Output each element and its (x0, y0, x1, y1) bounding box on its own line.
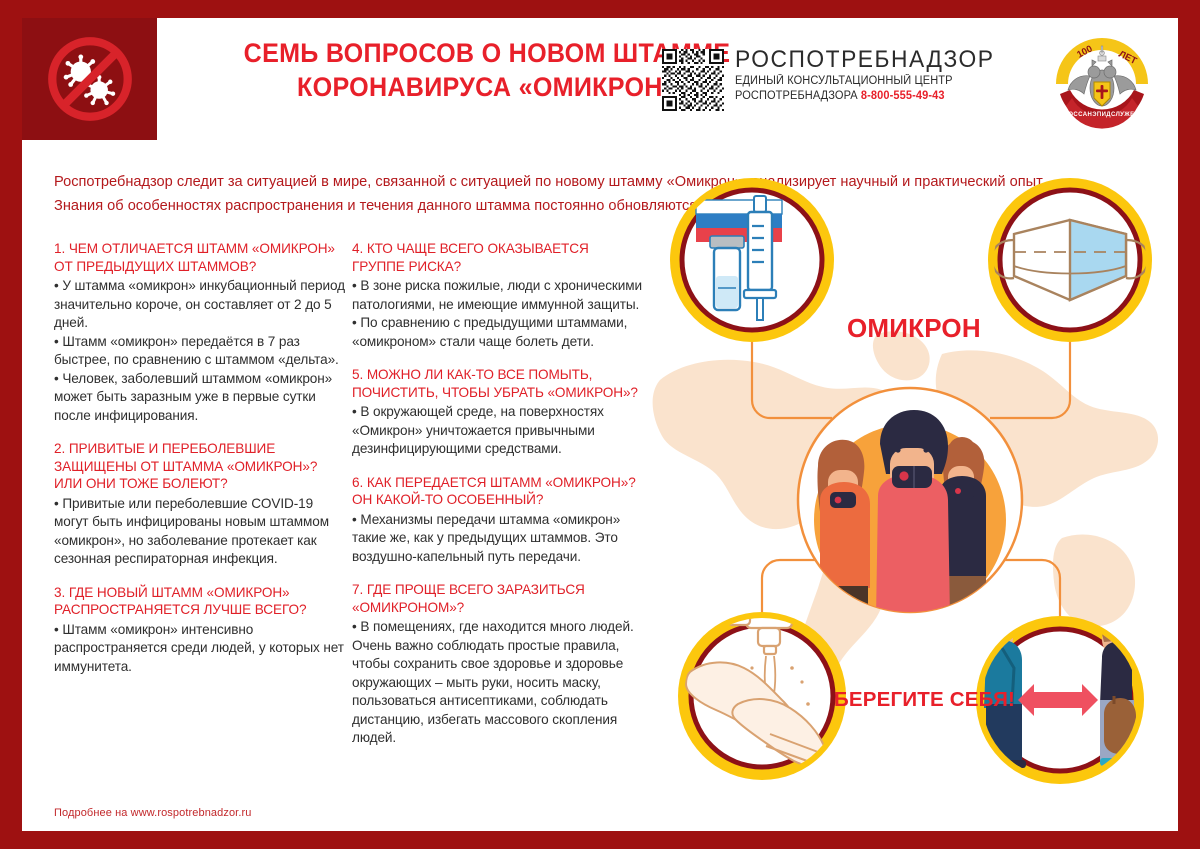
rospotrebnadzor-emblem-icon: 100 ЛЕТ ГОССАНЭПИДСЛУЖБА (1048, 32, 1156, 132)
answer-bullet: • В зоне риска пожилые, люди с хроническ… (352, 277, 644, 314)
answer-bullet: • Человек, заболевший штаммом «омикрон» … (54, 370, 346, 426)
surgical-mask-icon (988, 178, 1152, 342)
answer-body: • В зоне риска пожилые, люди с хроническ… (352, 277, 644, 351)
questions-column-left: 1. ЧЕМ ОТЛИЧАЕТСЯ ШТАММ «ОМИКРОН» ОТ ПРЕ… (54, 240, 346, 691)
handwashing-faucet-icon (678, 612, 846, 780)
answer-bullet: • В помещениях, где находится много люде… (352, 618, 644, 748)
qa-block: 2. ПРИВИТЫЕ И ПЕРЕБОЛЕВШИЕ ЗАЩИЩЕНЫ ОТ Ш… (54, 440, 346, 569)
hotline-phone[interactable]: 8-800-555-49-43 (861, 90, 945, 102)
footer-link[interactable]: Подробнее на www.rospotrebnadzor.ru (54, 807, 251, 819)
no-virus-icon (22, 18, 157, 140)
poster-sheet: СЕМЬ ВОПРОСОВ О НОВОМ ШТАММЕ КОРОНАВИРУС… (22, 18, 1178, 831)
answer-body: • В окружающей среде, на поверхностях «О… (352, 403, 644, 459)
qa-block: 6. КАК ПЕРЕДАЕТСЯ ШТАММ «ОМИКРОН»? ОН КА… (352, 474, 644, 567)
brand-subtitle-line-1: ЕДИНЫЙ КОНСУЛЬТАЦИОННЫЙ ЦЕНТР (735, 74, 997, 89)
poster-root: СЕМЬ ВОПРОСОВ О НОВОМ ШТАММЕ КОРОНАВИРУС… (0, 0, 1200, 849)
question-heading: 6. КАК ПЕРЕДАЕТСЯ ШТАММ «ОМИКРОН»? ОН КА… (352, 474, 644, 509)
brand-name: РОСПОТРЕБНАДЗОР (735, 46, 994, 74)
question-heading: 2. ПРИВИТЫЕ И ПЕРЕБОЛЕВШИЕ ЗАЩИЩЕНЫ ОТ Ш… (54, 440, 346, 493)
brand-subtitle-text: РОСПОТРЕБНАДЗОРА (735, 90, 858, 102)
answer-bullet: • У штамма «омикрон» инкубационный перио… (54, 277, 346, 333)
answer-bullet: • Штамм «омикрон» интенсивно распростран… (54, 621, 346, 677)
qr-code-icon[interactable] (662, 49, 724, 111)
answer-bullet: • По сравнению с предыдущими штаммами, «… (352, 314, 644, 351)
question-heading: 3. ГДЕ НОВЫЙ ШТАММ «ОМИКРОН» РАСПРОСТРАН… (54, 584, 346, 619)
vaccine-vial-syringe-icon (670, 178, 834, 342)
answer-bullet: • В окружающей среде, на поверхностях «О… (352, 403, 644, 459)
svg-text:ГОССАНЭПИДСЛУЖБА: ГОССАНЭПИДСЛУЖБА (1065, 112, 1140, 118)
protect-yourself-label: БЕРЕГИТЕ СЕБЯ! (834, 688, 1015, 712)
questions-column-right: 4. КТО ЧАЩЕ ВСЕГО ОКАЗЫВАЕТСЯ ГРУППЕ РИС… (352, 240, 644, 763)
answer-body: • Привитые или переболевшие COVID-19 мог… (54, 495, 346, 569)
question-heading: 1. ЧЕМ ОТЛИЧАЕТСЯ ШТАММ «ОМИКРОН» ОТ ПРЕ… (54, 240, 346, 275)
answer-bullet: • Штамм «омикрон» передаётся в 7 раз быс… (54, 333, 346, 370)
qa-block: 4. КТО ЧАЩЕ ВСЕГО ОКАЗЫВАЕТСЯ ГРУППЕ РИС… (352, 240, 644, 351)
qa-block: 7. ГДЕ ПРОЩЕ ВСЕГО ЗАРАЗИТЬСЯ «ОМИКРОНОМ… (352, 581, 644, 748)
brand-text: РОСПОТРЕБНАДЗОР ЕДИНЫЙ КОНСУЛЬТАЦИОННЫЙ … (735, 44, 1008, 104)
answer-body: • Механизмы передачи штамма «омикрон» та… (352, 511, 644, 567)
question-heading: 4. КТО ЧАЩЕ ВСЕГО ОКАЗЫВАЕТСЯ ГРУППЕ РИС… (352, 240, 644, 275)
answer-body: • В помещениях, где находится много люде… (352, 618, 644, 748)
illustration-panel: ОМИКРОН БЕРЕГИТЕ СЕБЯ! (642, 148, 1178, 813)
qa-block: 1. ЧЕМ ОТЛИЧАЕТСЯ ШТАММ «ОМИКРОН» ОТ ПРЕ… (54, 240, 346, 425)
omikron-label: ОМИКРОН (847, 313, 981, 344)
poster-header: СЕМЬ ВОПРОСОВ О НОВОМ ШТАММЕ КОРОНАВИРУС… (22, 18, 1178, 140)
brand-block: РОСПОТРЕБНАДЗОР ЕДИНЫЙ КОНСУЛЬТАЦИОННЫЙ … (662, 44, 1008, 111)
question-heading: 5. МОЖНО ЛИ КАК-ТО ВСЕ ПОМЫТЬ, ПОЧИСТИТЬ… (352, 366, 644, 401)
brand-subtitle-line-2: РОСПОТРЕБНАДЗОРА 8-800-555-49-43 (735, 89, 997, 104)
qa-block: 3. ГДЕ НОВЫЙ ШТАММ «ОМИКРОН» РАСПРОСТРАН… (54, 584, 346, 677)
answer-bullet: • Привитые или переболевшие COVID-19 мог… (54, 495, 346, 569)
question-heading: 7. ГДЕ ПРОЩЕ ВСЕГО ЗАРАЗИТЬСЯ «ОМИКРОНОМ… (352, 581, 644, 616)
qa-block: 5. МОЖНО ЛИ КАК-ТО ВСЕ ПОМЫТЬ, ПОЧИСТИТЬ… (352, 366, 644, 459)
answer-bullet: • Механизмы передачи штамма «омикрон» та… (352, 511, 644, 567)
answer-body: • У штамма «омикрон» инкубационный перио… (54, 277, 346, 425)
answer-body: • Штамм «омикрон» интенсивно распростран… (54, 621, 346, 677)
